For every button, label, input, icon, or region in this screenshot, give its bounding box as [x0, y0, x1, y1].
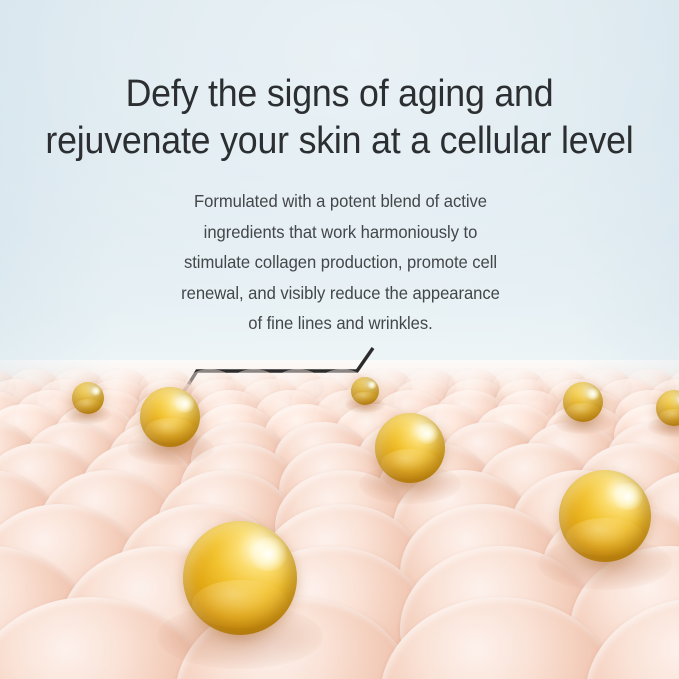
description-paragraph: Formulated with a potent blend of active…: [164, 186, 516, 339]
infographic-canvas: Defy the signs of aging and rejuvenate y…: [0, 0, 679, 679]
sphere-marked: [140, 387, 200, 447]
skin-surface: [0, 360, 679, 679]
sphere-far-left-small: [72, 382, 104, 414]
sphere-large-right: [559, 470, 651, 562]
sphere-tiny-center: [351, 377, 379, 405]
description-line: ingredients that work harmoniously to: [164, 217, 516, 248]
sphere-large-center: [183, 521, 297, 635]
description-line: of fine lines and wrinkles.: [164, 308, 516, 339]
page-title: Defy the signs of aging and rejuvenate y…: [20, 71, 658, 165]
sphere-mid-center: [375, 413, 445, 483]
description-line: Formulated with a potent blend of active: [164, 186, 516, 217]
description-line: stimulate collagen production, promote c…: [164, 247, 516, 278]
description-line: renewal, and visibly reduce the appearan…: [164, 278, 516, 309]
sphere-right-small: [563, 382, 603, 422]
